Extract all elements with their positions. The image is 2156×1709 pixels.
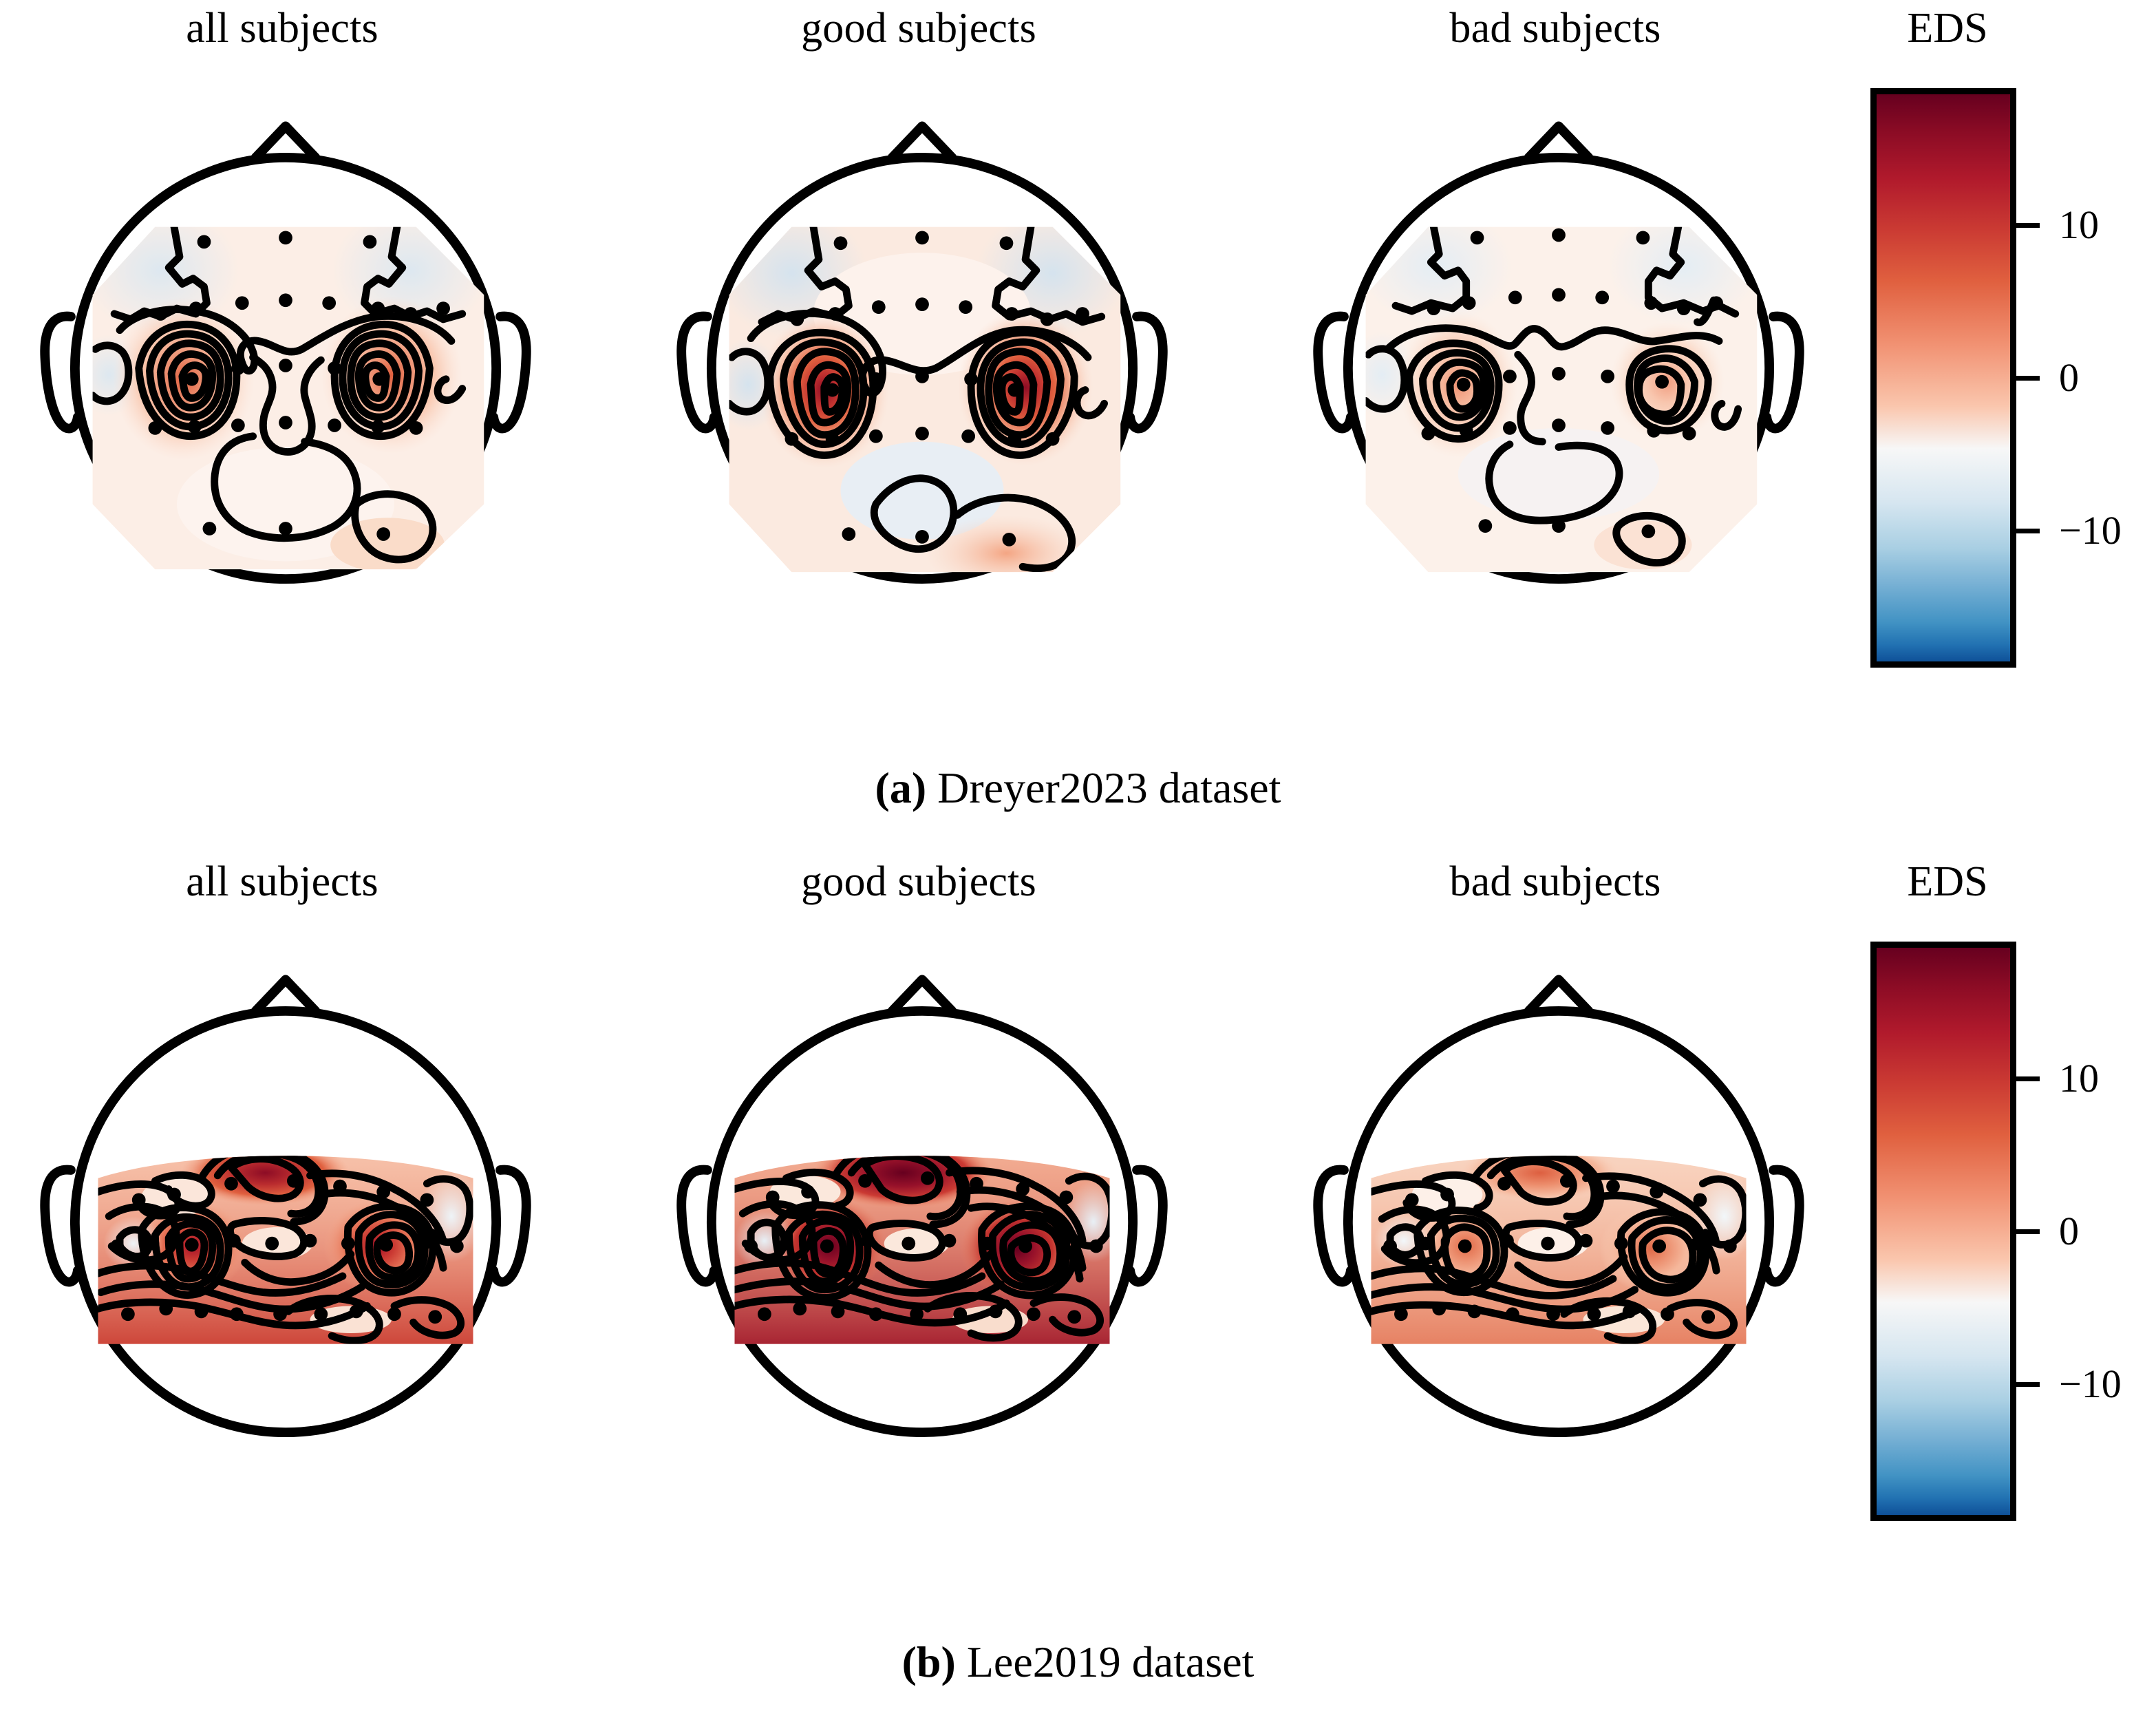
topoplot-title: all subjects bbox=[0, 858, 578, 906]
tick-line bbox=[2016, 223, 2040, 228]
topoplot-dreyer-all-subjects[interactable]: all subjects bbox=[0, 0, 578, 730]
caption-text: Lee2019 dataset bbox=[967, 1637, 1255, 1686]
colorbar-gradient bbox=[1870, 88, 2016, 668]
caption-prefix: (a) bbox=[875, 763, 927, 812]
panel-dreyer2023: all subjects bbox=[0, 0, 2156, 853]
tick-line bbox=[2016, 1076, 2040, 1081]
panel-caption-b: (b) Lee2019 dataset bbox=[0, 1637, 2156, 1688]
topoplot-lee-bad-subjects[interactable]: bad subjects bbox=[1259, 853, 1851, 1583]
figure-root: all subjects bbox=[0, 0, 2156, 1709]
panel-caption-a: (a) Dreyer2023 dataset bbox=[0, 763, 2156, 814]
colorbar-label: EDS bbox=[1858, 4, 2037, 53]
topoplot-title: all subjects bbox=[0, 4, 578, 53]
colorbar-label: EDS bbox=[1858, 858, 2037, 906]
panel-lee2019: all subjects bbox=[0, 853, 2156, 1709]
topoplot-canvas bbox=[14, 919, 557, 1525]
tick-line bbox=[2016, 1229, 2040, 1234]
topoplot-lee-good-subjects[interactable]: good subjects bbox=[623, 853, 1215, 1583]
topoplot-canvas bbox=[1287, 919, 1831, 1525]
colorbar-gradient bbox=[1870, 942, 2016, 1521]
colorbar-lee2019[interactable]: EDS 10 0 −10 bbox=[1858, 853, 2147, 1583]
topoplot-dreyer-bad-subjects[interactable]: bad subjects bbox=[1259, 0, 1851, 730]
colorbar-dreyer2023[interactable]: EDS 10 0 −10 bbox=[1858, 0, 2147, 730]
caption-prefix: (b) bbox=[902, 1637, 956, 1686]
topoplot-canvas bbox=[14, 65, 557, 671]
topoplot-title: bad subjects bbox=[1259, 4, 1851, 53]
topoplot-title: good subjects bbox=[623, 858, 1215, 906]
topoplot-title: bad subjects bbox=[1259, 858, 1851, 906]
tick-line bbox=[2016, 1382, 2040, 1387]
topoplot-dreyer-good-subjects[interactable]: good subjects bbox=[623, 0, 1215, 730]
topoplot-canvas bbox=[1287, 65, 1831, 671]
topoplot-title: good subjects bbox=[623, 4, 1215, 53]
topoplot-canvas bbox=[650, 919, 1194, 1525]
tick-line bbox=[2016, 376, 2040, 381]
colorbar-tick-group: 10 0 −10 bbox=[2016, 88, 2147, 668]
topoplot-lee-all-subjects[interactable]: all subjects bbox=[0, 853, 578, 1583]
caption-text: Dreyer2023 dataset bbox=[937, 763, 1281, 812]
topoplot-canvas bbox=[650, 65, 1194, 671]
tick-line bbox=[2016, 529, 2040, 533]
colorbar-tick-group: 10 0 −10 bbox=[2016, 942, 2147, 1521]
